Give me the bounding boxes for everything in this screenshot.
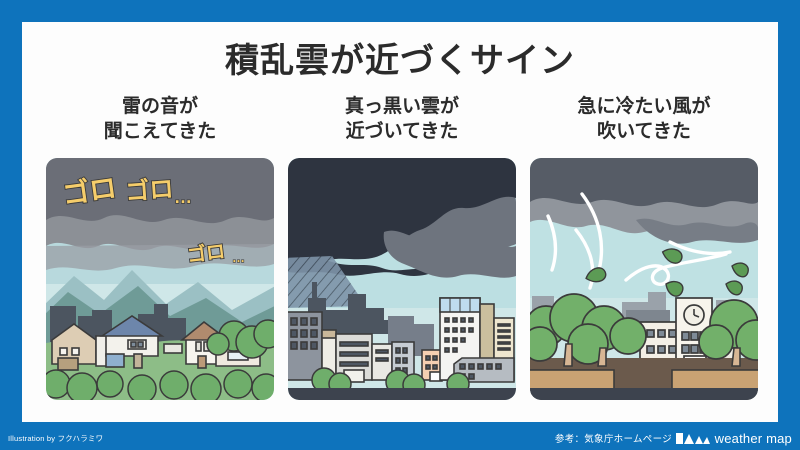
page-title: 積乱雲が近づくサイン xyxy=(22,44,778,78)
panel-cold-wind: 急に冷たい風が 吹いてきた xyxy=(530,94,758,414)
svg-text:…: … xyxy=(174,187,192,207)
caption-line-2: 吹いてきた xyxy=(530,119,758,144)
illustration-credit: Illustration by フクハラミワ xyxy=(8,433,103,444)
mountain-peaks-logo-icon xyxy=(676,432,710,445)
svg-text:ゴロ: ゴロ xyxy=(124,175,174,206)
caption-line-1: 急に冷たい風が xyxy=(530,94,758,119)
source-reference: 参考：気象庁ホームページ xyxy=(555,431,672,445)
content-card: 積乱雲が近づくサイン 雷の音が 聞こえてきた xyxy=(22,22,778,422)
caption-line-1: 真っ黒い雲が xyxy=(288,94,516,119)
panel-row: 雷の音が 聞こえてきた xyxy=(46,94,758,414)
brand-logo[interactable]: weather map xyxy=(676,431,792,446)
illustration-cold-wind xyxy=(530,158,758,400)
caption-line-2: 近づいてきた xyxy=(288,119,516,144)
illustration-thunder-sound: ゴロ ゴロ … ゴロ … xyxy=(46,158,274,400)
panel-caption: 雷の音が 聞こえてきた xyxy=(46,94,274,150)
brand-name: weather map xyxy=(715,431,792,446)
panel-caption: 急に冷たい風が 吹いてきた xyxy=(530,94,758,150)
panel-black-cloud: 真っ黒い雲が 近づいてきた xyxy=(288,94,516,414)
footer-bar: Illustration by フクハラミワ 参考：気象庁ホームページ weat… xyxy=(0,424,800,450)
svg-text:…: … xyxy=(232,250,245,265)
caption-line-1: 雷の音が xyxy=(46,94,274,119)
panel-caption: 真っ黒い雲が 近づいてきた xyxy=(288,94,516,150)
illustration-black-cloud xyxy=(288,158,516,400)
panel-thunder-sound: 雷の音が 聞こえてきた xyxy=(46,94,274,414)
poster-root: 積乱雲が近づくサイン 雷の音が 聞こえてきた xyxy=(0,0,800,450)
caption-line-2: 聞こえてきた xyxy=(46,119,274,144)
